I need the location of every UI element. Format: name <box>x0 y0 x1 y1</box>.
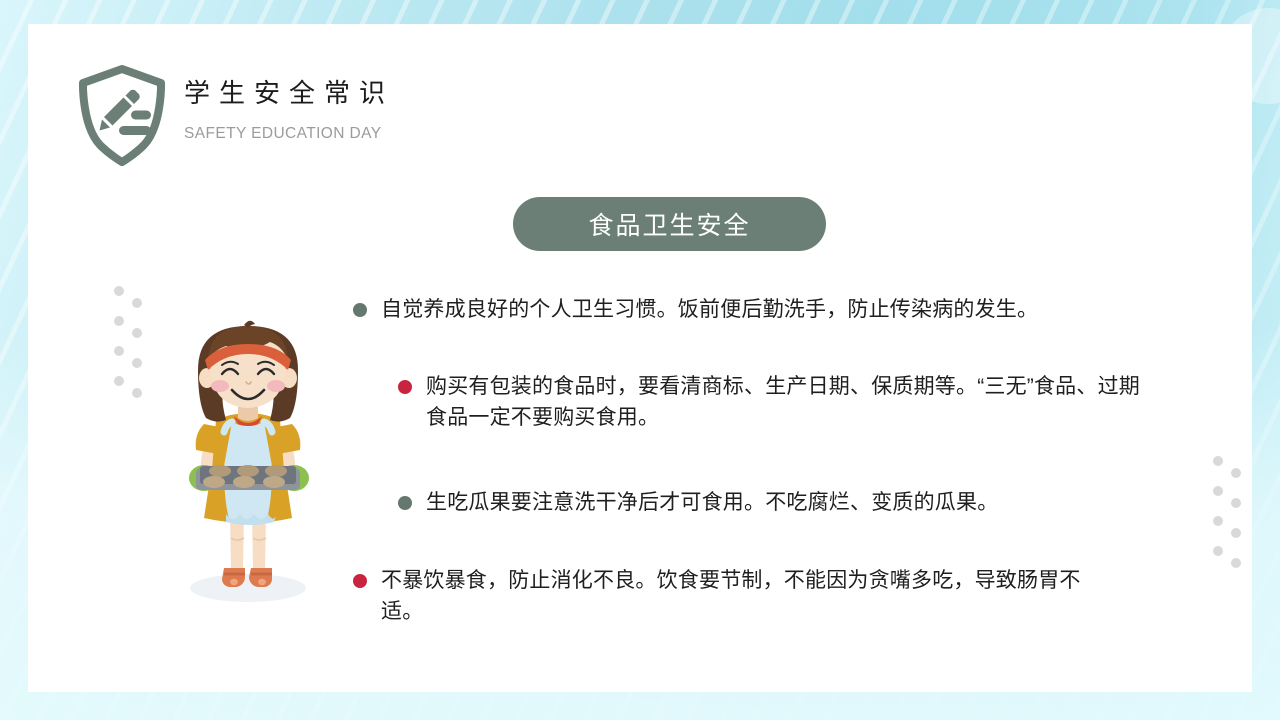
dot-cluster-right <box>1213 456 1253 576</box>
decorative-dot <box>1213 546 1223 556</box>
decorative-dot <box>132 388 142 398</box>
decorative-dot <box>114 376 124 386</box>
decorative-dot <box>114 346 124 356</box>
girl-holding-cookie-tray-illustration <box>158 316 338 612</box>
slide-content-card: 学生安全常识 SAFETY EDUCATION DAY 食品卫生安全 <box>28 24 1252 692</box>
bullet-marker-icon <box>398 380 412 394</box>
page-title: 学生安全常识 <box>184 78 394 109</box>
slide-header: 学生安全常识 SAFETY EDUCATION DAY <box>76 64 394 168</box>
slide-canvas: 学生安全常识 SAFETY EDUCATION DAY 食品卫生安全 <box>0 0 1280 720</box>
decorative-dot <box>1231 468 1241 478</box>
decorative-dot <box>114 286 124 296</box>
bullet-marker-icon <box>353 574 367 588</box>
bullet-marker-icon <box>398 496 412 510</box>
section-title-label: 食品卫生安全 <box>588 206 750 242</box>
header-text-block: 学生安全常识 SAFETY EDUCATION DAY <box>184 64 394 143</box>
decorative-dot <box>1213 456 1223 466</box>
decorative-dot <box>1231 528 1241 538</box>
bullet-text: 购买有包装的食品时，要看清商标、生产日期、保质期等。“三无”食品、过期食品一定不… <box>426 371 1143 433</box>
decorative-dot <box>114 316 124 326</box>
bullet-text: 不暴饮暴食，防止消化不良。饮食要节制，不能因为贪嘴多吃，导致肠胃不适。 <box>381 565 1113 627</box>
decorative-dot <box>1213 516 1223 526</box>
decorative-dot <box>1231 498 1241 508</box>
bullet-item: 购买有包装的食品时，要看清商标、生产日期、保质期等。“三无”食品、过期食品一定不… <box>398 371 1143 433</box>
bullet-marker-icon <box>353 303 367 317</box>
decorative-dot <box>1213 486 1223 496</box>
decorative-dot <box>132 298 142 308</box>
bullet-text: 生吃瓜果要注意洗干净后才可食用。不吃腐烂、变质的瓜果。 <box>426 487 998 518</box>
dot-cluster-left <box>114 286 154 406</box>
section-title-badge: 食品卫生安全 <box>513 197 826 251</box>
page-subtitle: SAFETY EDUCATION DAY <box>184 125 394 143</box>
bullet-text: 自觉养成良好的个人卫生习惯。饭前便后勤洗手，防止传染病的发生。 <box>381 294 1038 325</box>
bullet-item: 自觉养成良好的个人卫生习惯。饭前便后勤洗手，防止传染病的发生。 <box>353 294 1113 325</box>
bullet-item: 不暴饮暴食，防止消化不良。饮食要节制，不能因为贪嘴多吃，导致肠胃不适。 <box>353 565 1113 627</box>
decorative-dot <box>1231 558 1241 568</box>
decorative-dot <box>132 358 142 368</box>
decorative-dot <box>132 328 142 338</box>
shield-pencil-icon <box>76 64 168 168</box>
bullet-item: 生吃瓜果要注意洗干净后才可食用。不吃腐烂、变质的瓜果。 <box>398 487 1118 518</box>
